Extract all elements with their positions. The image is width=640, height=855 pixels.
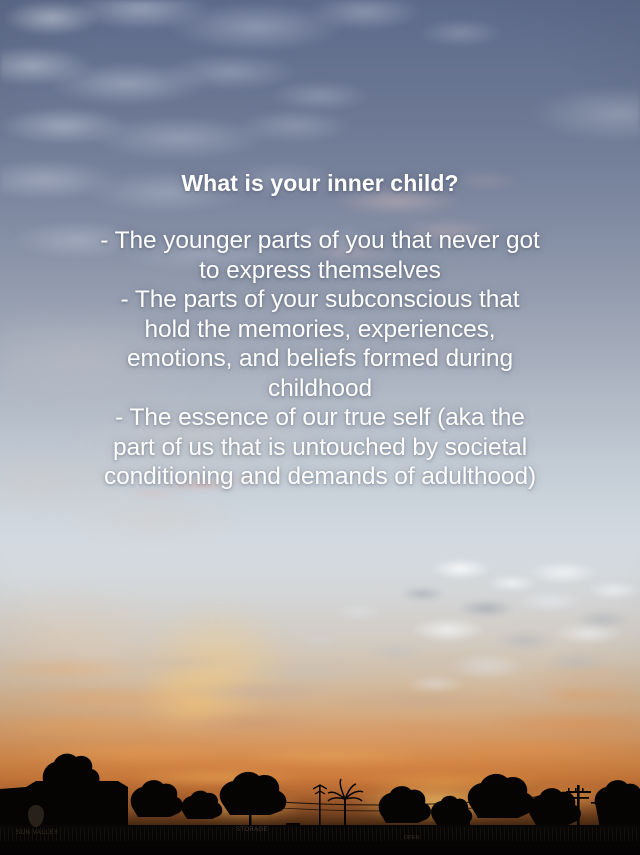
quote-text-overlay: What is your inner child? - The younger … — [0, 168, 640, 492]
overlay-body-line: childhood — [48, 374, 592, 404]
overlay-body-line: - The younger parts of you that never go… — [48, 226, 592, 256]
overlay-body-line: hold the memories, experiences, — [48, 315, 592, 345]
left-sign-text: SUN VALLEY — [16, 830, 59, 836]
overlay-body-line: to express themselves — [48, 256, 592, 286]
overlay-title: What is your inner child? — [0, 168, 640, 198]
horizon-silhouette: SUN VALLEY STORAGE OPEN — [0, 745, 640, 855]
overlay-spacer — [0, 198, 640, 226]
center-sign-text: STORAGE — [236, 827, 268, 833]
fence-railing — [0, 827, 640, 841]
overlay-body-line: conditioning and demands of adulthood) — [48, 462, 592, 492]
right-sign-text: OPEN — [404, 835, 420, 841]
overlay-body: - The younger parts of you that never go… — [0, 226, 640, 492]
overlay-body-line: - The essence of our true self (aka the — [48, 403, 592, 433]
overlay-body-line: emotions, and beliefs formed during — [48, 344, 592, 374]
photo-quote-canvas: SUN VALLEY STORAGE OPEN What is your inn… — [0, 0, 640, 855]
overlay-body-line: - The parts of your subconscious that — [48, 285, 592, 315]
overlay-body-line: part of us that is untouched by societal — [48, 433, 592, 463]
